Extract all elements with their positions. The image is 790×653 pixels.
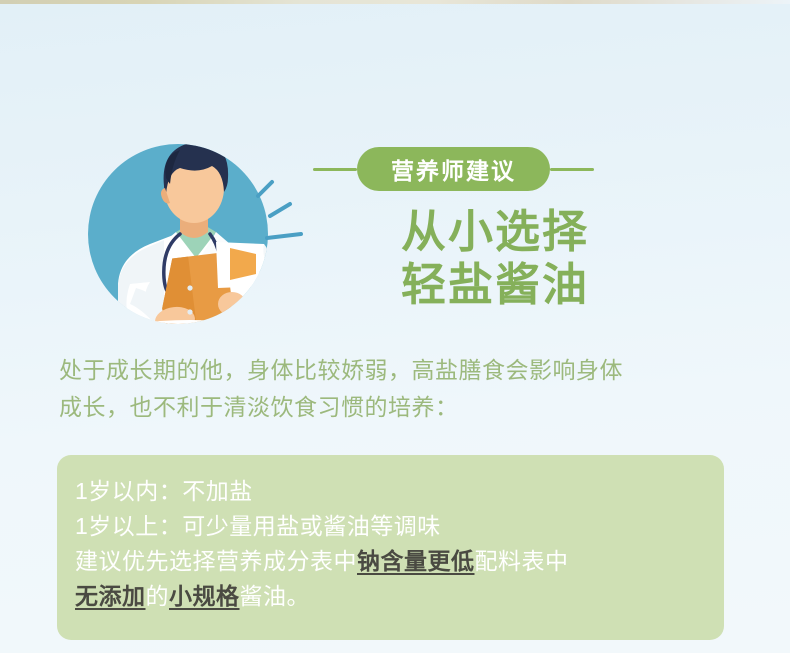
badge-rule-right [550, 168, 594, 171]
advice-emphasis-small-size: 小规格 [169, 583, 240, 609]
advice-line-2-seg-1: 1岁以上：可少量用盐或酱油等调味 [75, 513, 441, 539]
intro-paragraph-line-2: 成长，也不利于清淡饮食习惯的培养： [59, 389, 749, 426]
advice-line-1-seg-1: 1岁以内：不加盐 [75, 478, 253, 504]
intro-paragraph: 处于成长期的他，身体比较娇弱，高盐膳食会影响身体 成长，也不利于清淡饮食习惯的培… [59, 352, 749, 426]
page-title-line-1: 从小选择 [330, 205, 660, 258]
advice-line-4-seg-4: 酱油。 [240, 583, 311, 609]
section-badge: 营养师建议 [357, 147, 550, 191]
advice-callout-box: 1岁以内：不加盐 1岁以上：可少量用盐或酱油等调味 建议优先选择营养成分表中钠含… [57, 455, 724, 640]
top-edge-strip [0, 0, 790, 4]
advice-line-1: 1岁以内：不加盐 [75, 474, 724, 509]
page-title: 从小选择 轻盐酱油 [330, 205, 660, 311]
section-badge-row: 营养师建议 [313, 147, 673, 191]
advice-line-3: 建议优先选择营养成分表中钠含量更低配料表中 [75, 544, 724, 579]
advice-line-4-seg-2: 的 [146, 583, 170, 609]
promo-page: 营养师建议 从小选择 轻盐酱油 处于成长期的他，身体比较娇弱，高盐膳食会影响身体… [0, 0, 790, 653]
advice-line-3-seg-3: 配料表中 [475, 548, 569, 574]
badge-rule-left [313, 168, 357, 171]
page-title-line-2: 轻盐酱油 [330, 258, 660, 311]
advice-callout-content: 1岁以内：不加盐 1岁以上：可少量用盐或酱油等调味 建议优先选择营养成分表中钠含… [57, 455, 724, 614]
intro-paragraph-line-1: 处于成长期的他，身体比较娇弱，高盐膳食会影响身体 [59, 352, 749, 389]
doctor-illustration [80, 108, 312, 344]
advice-line-2: 1岁以上：可少量用盐或酱油等调味 [75, 509, 724, 544]
advice-line-4: 无添加的小规格酱油。 [75, 579, 724, 614]
advice-emphasis-no-additives: 无添加 [75, 583, 146, 609]
advice-line-3-seg-1: 建议优先选择营养成分表中 [75, 548, 357, 574]
advice-emphasis-sodium: 钠含量更低 [357, 548, 475, 574]
